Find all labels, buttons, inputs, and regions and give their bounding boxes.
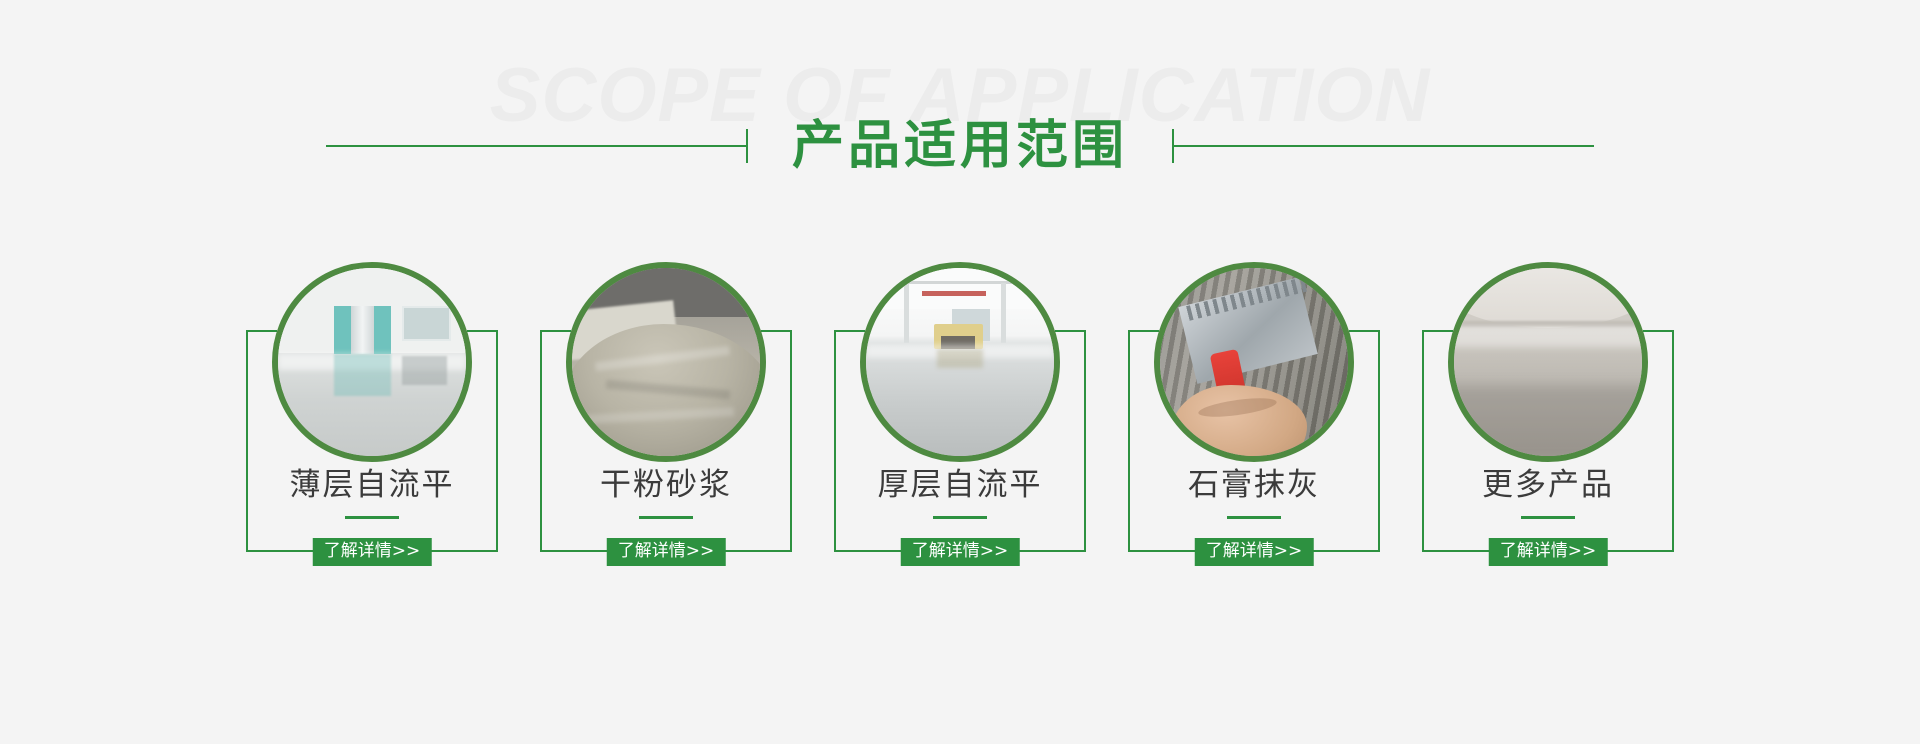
learn-more-button[interactable]: 了解详情>> [1195, 538, 1314, 566]
card-label-underline [933, 516, 987, 519]
page-title: 产品适用范围 [748, 120, 1172, 172]
learn-more-button[interactable]: 了解详情>> [1489, 538, 1608, 566]
card-label-underline [1227, 516, 1281, 519]
learn-more-button[interactable]: 了解详情>> [901, 538, 1020, 566]
card-label: 干粉砂浆 [540, 468, 792, 502]
title-row: 产品适用范围 [0, 120, 1920, 172]
application-card[interactable]: 石膏抹灰 了解详情>> [1128, 262, 1380, 552]
dry-powder-mortar-photo [566, 262, 766, 462]
application-card[interactable]: 更多产品 了解详情>> [1422, 262, 1674, 552]
title-rule-right [1174, 145, 1594, 147]
application-card[interactable]: 厚层自流平 了解详情>> [834, 262, 1086, 552]
card-label: 薄层自流平 [246, 468, 498, 502]
application-card[interactable]: 薄层自流平 了解详情>> [246, 262, 498, 552]
card-label: 厚层自流平 [834, 468, 1086, 502]
card-label-underline [639, 516, 693, 519]
thin-self-leveling-floor-photo [272, 262, 472, 462]
more-products-photo [1448, 262, 1648, 462]
application-card[interactable]: 干粉砂浆 了解详情>> [540, 262, 792, 552]
section-header: SCOPE OF APPLICATION 产品适用范围 [0, 0, 1920, 230]
learn-more-button[interactable]: 了解详情>> [607, 538, 726, 566]
application-card-list: 薄层自流平 了解详情>> 干粉砂浆 了解详情>> 厚层自流平 [0, 262, 1920, 552]
gypsum-plaster-trowel-photo [1154, 262, 1354, 462]
learn-more-button[interactable]: 了解详情>> [313, 538, 432, 566]
title-rule-left [326, 145, 746, 147]
card-label: 石膏抹灰 [1128, 468, 1380, 502]
card-label-underline [345, 516, 399, 519]
card-label: 更多产品 [1422, 468, 1674, 502]
thick-self-leveling-floor-photo [860, 262, 1060, 462]
card-label-underline [1521, 516, 1575, 519]
